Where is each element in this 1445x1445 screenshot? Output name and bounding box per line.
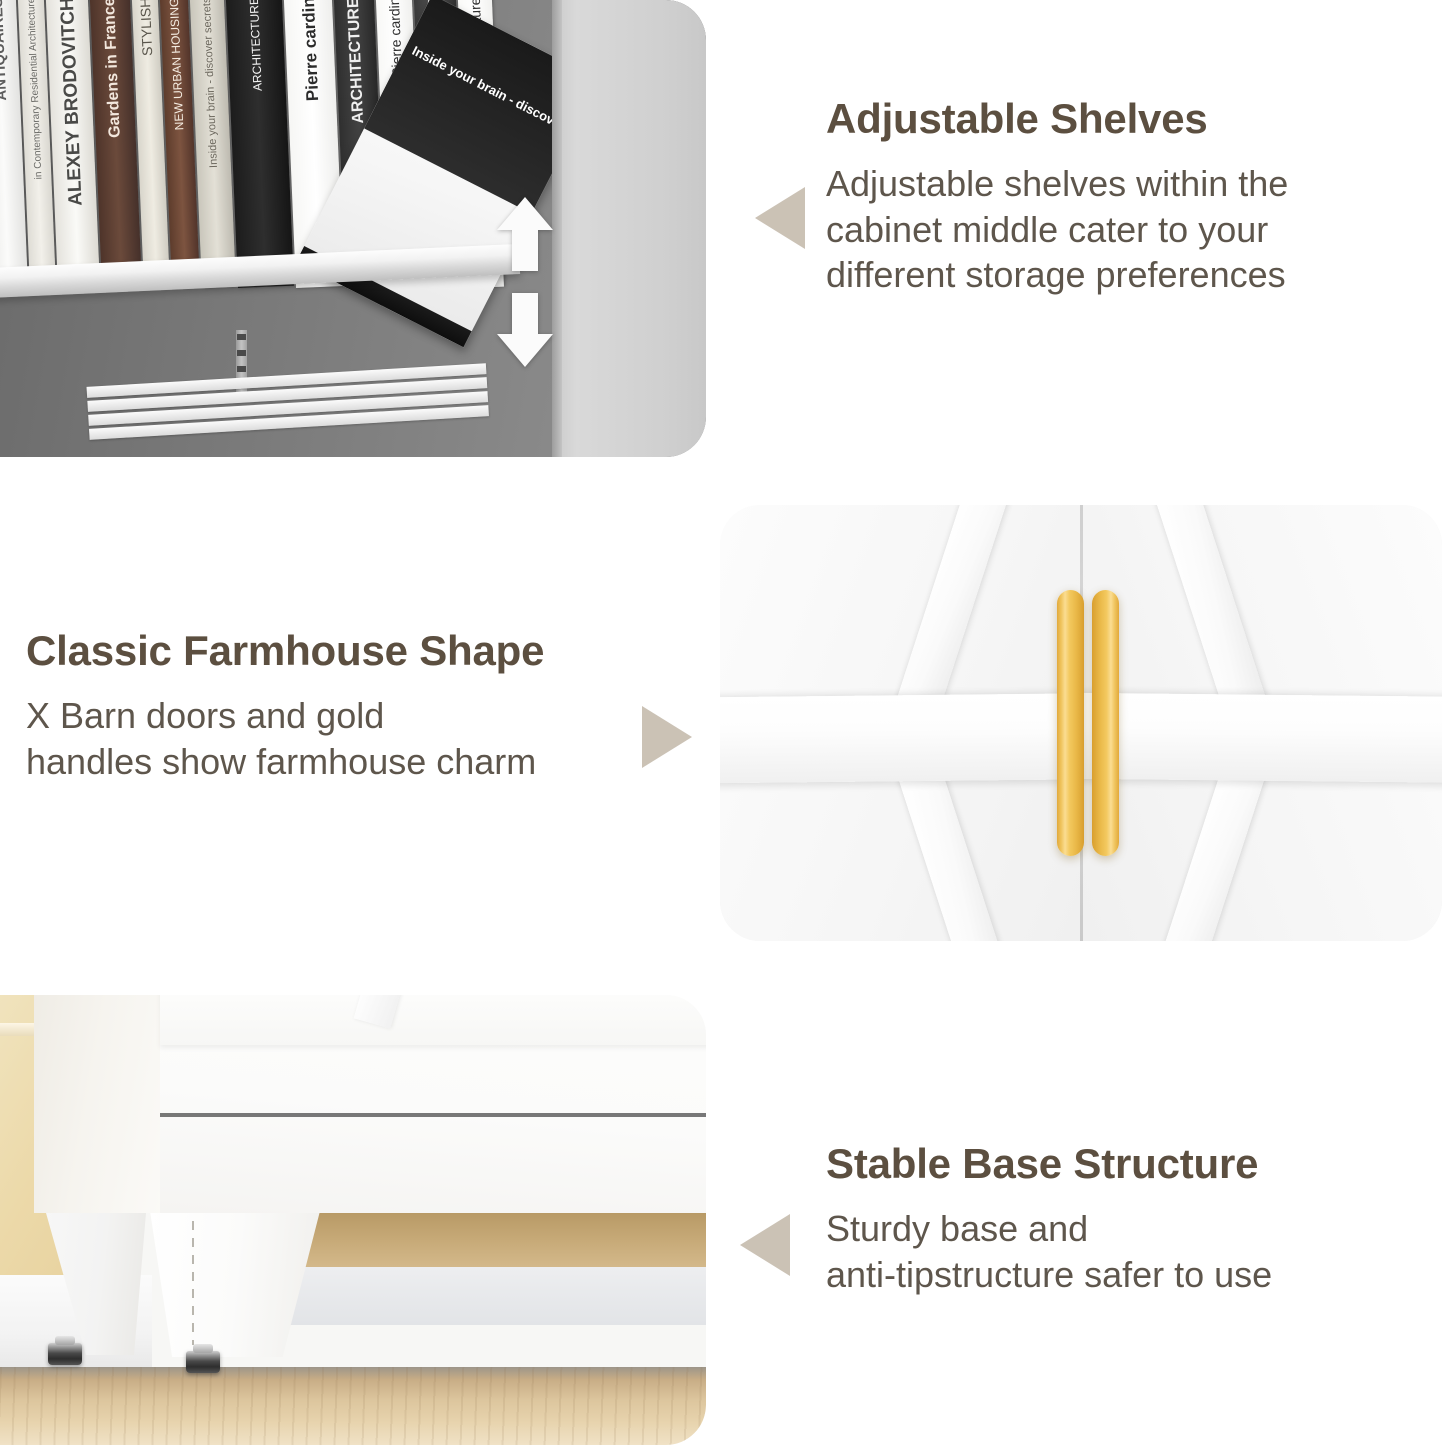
wood-floor <box>0 1367 706 1445</box>
door-batten-lower-left <box>895 755 1017 941</box>
feature-body-line: X Barn doors and gold <box>26 693 666 739</box>
feature-body-line: handles show farmhouse charm <box>26 739 666 785</box>
book-spine-title: ARCHITECTURE <box>345 0 368 124</box>
door-crossbar-left <box>720 693 1081 784</box>
photo-adjustable-shelves: ANTIQUAIRESin Contemporary Residential A… <box>0 0 706 457</box>
cabinet-side-panel <box>34 995 164 1213</box>
book-spine-title: ALEXEY BRODOVITCH <box>56 0 87 206</box>
feature-body-line: Adjustable shelves within the <box>826 161 1436 207</box>
feature-text-adjustable-shelves: Adjustable Shelves Adjustable shelves wi… <box>826 95 1436 298</box>
feature-body-line: different storage preferences <box>826 252 1436 298</box>
cabinet-door-bottom-edge <box>160 995 706 1045</box>
feature-text-classic-farmhouse-shape: Classic Farmhouse Shape X Barn doors and… <box>26 627 666 784</box>
feature-body-line: Sturdy base and <box>826 1206 1436 1252</box>
feature-heading-stable-base-structure: Stable Base Structure <box>826 1140 1436 1188</box>
photo-barn-doors <box>720 505 1442 941</box>
arrow-up-icon <box>497 197 553 271</box>
book-spine-title: NEW URBAN HOUSING <box>167 0 187 131</box>
photo-stable-base <box>0 995 706 1445</box>
barn-door-left <box>720 505 1081 941</box>
barn-door-right <box>1081 505 1442 941</box>
feature-body-classic-farmhouse-shape: X Barn doors and gold handles show farmh… <box>26 693 666 784</box>
cabinet-door-frame <box>552 0 706 457</box>
pointer-arrow-classic-farmhouse-shape <box>642 706 692 768</box>
door-batten-lower-right <box>1146 755 1268 941</box>
pointer-arrow-adjustable-shelves <box>755 187 805 249</box>
book-spine-title: Gardens in France <box>101 0 125 138</box>
arrow-down-icon <box>497 293 553 367</box>
book-spine: ARCHITECTURE <box>225 0 294 288</box>
book-spine-title: in Contemporary Residential Architecture <box>25 0 44 180</box>
feature-heading-classic-farmhouse-shape: Classic Farmhouse Shape <box>26 627 666 675</box>
book-spine-title: Pierre cardin <box>298 0 322 102</box>
feature-body-line: anti-tipstructure safer to use <box>826 1252 1436 1298</box>
book-spine-title: ANTIQUAIRES <box>0 0 10 101</box>
adjustable-foot-front <box>186 1351 220 1373</box>
cabinet-leg-front <box>150 1211 320 1357</box>
feature-body-adjustable-shelves: Adjustable shelves within the cabinet mi… <box>826 161 1436 298</box>
feature-body-stable-base-structure: Sturdy base and anti-tipstructure safer … <box>826 1206 1436 1297</box>
book-spine-title: Inside your brain - discover secrets <box>201 0 220 168</box>
book-spine-title: ARCHITECTURE <box>247 0 265 91</box>
feature-text-stable-base-structure: Stable Base Structure Sturdy base and an… <box>826 1140 1436 1297</box>
door-crossbar-right <box>1081 693 1442 784</box>
feature-heading-adjustable-shelves: Adjustable Shelves <box>826 95 1436 143</box>
adjustable-foot-back <box>48 1343 82 1365</box>
book-spine-title: STYLISH <box>137 0 155 56</box>
leg-seam <box>192 1221 194 1345</box>
gold-handle-right[interactable] <box>1092 590 1119 856</box>
gold-handle-left[interactable] <box>1057 590 1084 856</box>
feature-body-line: cabinet middle cater to your <box>826 207 1436 253</box>
cabinet-door-batten <box>354 995 413 1029</box>
cabinet-drawer-gap <box>160 1113 706 1117</box>
pointer-arrow-stable-base-structure <box>740 1214 790 1276</box>
